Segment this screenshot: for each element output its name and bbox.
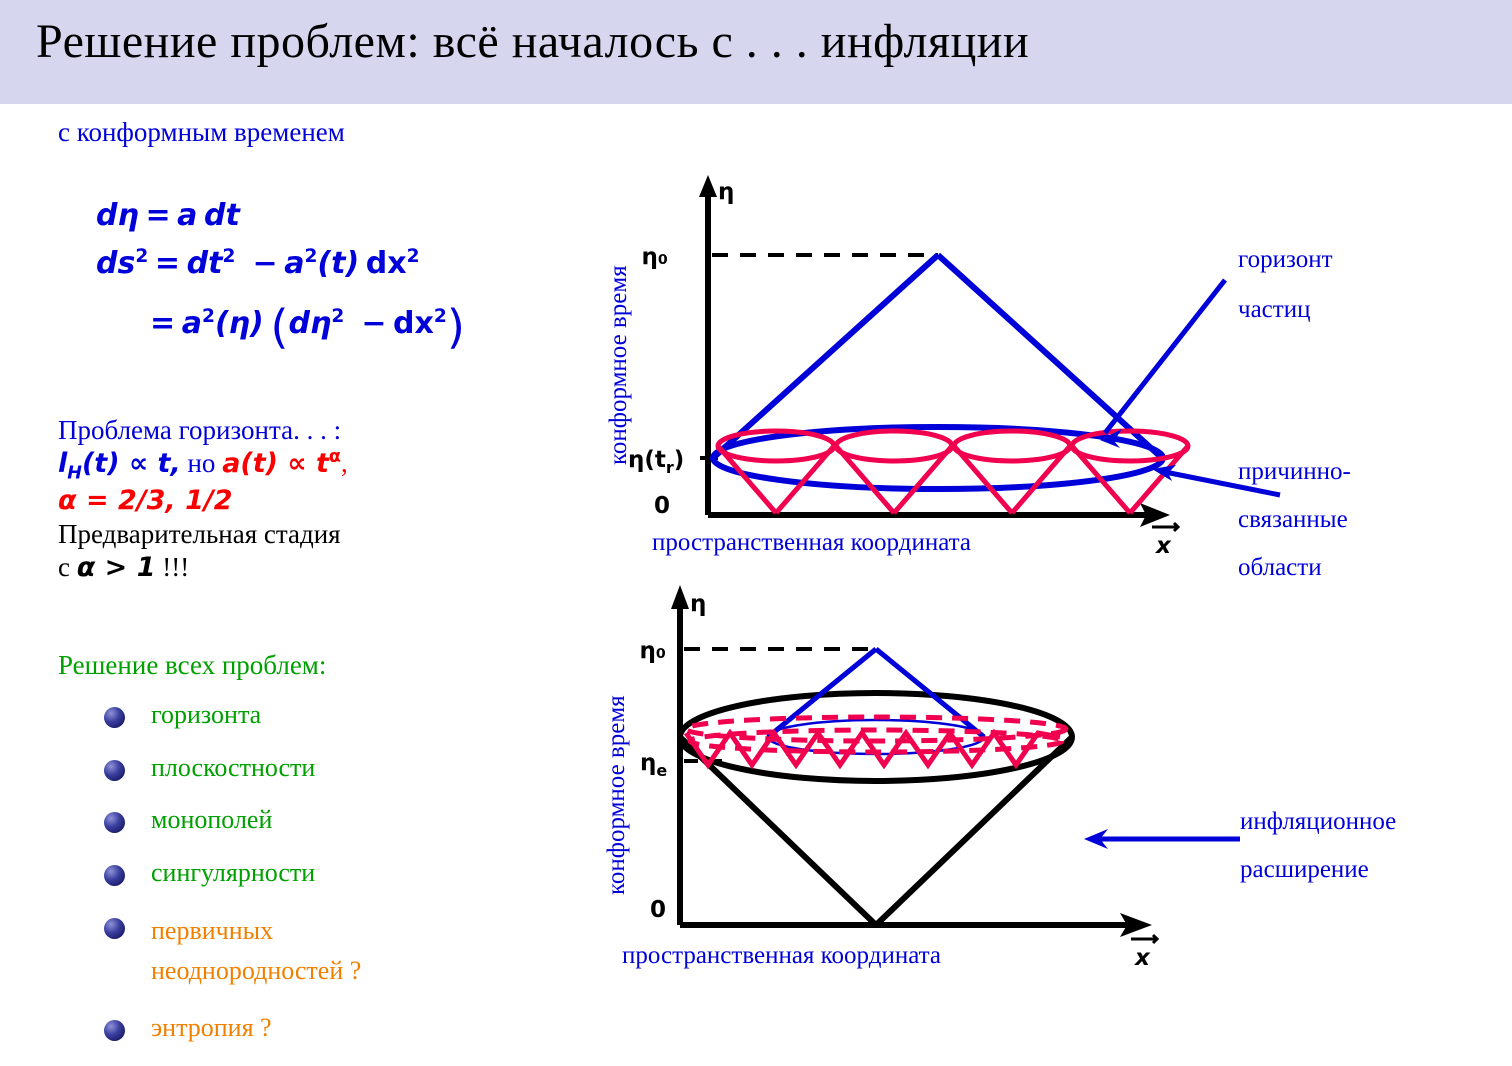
bullet-sphere-icon	[104, 760, 125, 781]
list-item[interactable]: энтропия ?	[104, 1013, 524, 1044]
page-title: Решение проблем: всё началось с . . . ин…	[36, 14, 1029, 69]
particle-horizon-arrow-line	[1105, 280, 1225, 433]
y-axis-symbol: η	[690, 591, 706, 617]
equation-ds2-conformal: =a2(η)(dη2 −dx2)	[150, 300, 465, 354]
equation-ds2-metric: ds2=dt2 −a2(t)dx2	[96, 246, 420, 281]
red-cone-ellipse	[1072, 431, 1188, 461]
y-axis-arrowhead	[699, 175, 717, 197]
red-cone-group-2	[836, 431, 952, 513]
list-item-label: горизонта	[151, 700, 261, 731]
red-cone-right-edge	[1012, 446, 1070, 513]
equation-deta-adt: dη=adt	[96, 198, 240, 233]
bullet-sphere-icon	[104, 865, 125, 886]
y-axis-title: конформное время	[605, 265, 632, 465]
annotation-inflation-line1: инфляционное	[1240, 808, 1396, 835]
bullet-sphere-icon	[104, 918, 125, 939]
list-item-label: монополей	[151, 805, 272, 836]
figure-inflation: η x конформное время пространственная ко…	[600, 565, 1512, 1005]
annotation-particle-horizon-line1: горизонт	[1238, 246, 1333, 273]
bullet-sphere-icon	[104, 812, 125, 833]
horizon-problem-heading: Проблема горизонта. . . :	[58, 414, 528, 447]
x-axis-symbol: x	[1155, 533, 1172, 559]
list-item[interactable]: сингулярности	[104, 858, 524, 889]
list-item-label: сингулярности	[151, 858, 315, 889]
x-axis-title: пространственная координата	[622, 942, 941, 969]
bullet-sphere-icon	[104, 1020, 125, 1041]
solutions-heading: Решение всех проблем:	[58, 650, 326, 681]
list-item-label: энтропия ?	[151, 1013, 272, 1044]
red-cone-left-edge	[836, 446, 894, 513]
tick-label-eta-e: ηe	[640, 750, 667, 780]
list-item[interactable]: первичных неоднородностей ?	[104, 911, 524, 992]
preliminary-stage-line: Предварительная стадия	[58, 518, 528, 551]
annotation-inflation-line2: расширение	[1240, 856, 1369, 883]
x-axis-symbol: x	[1134, 945, 1151, 971]
red-cone-left-edge	[954, 446, 1012, 513]
left-content-column: с конформным временем dη=adt ds2=dt2 −a2…	[0, 104, 600, 1040]
x-vector-arrow-icon	[1152, 523, 1178, 531]
tick-label-zero: 0	[650, 897, 666, 923]
tick-label-eta-tr: η(tr)	[628, 447, 684, 477]
x-axis-title: пространственная координата	[652, 529, 971, 556]
figure-standard-cosmology: η x конформное время пространственная ко…	[600, 165, 1512, 580]
list-item[interactable]: горизонта	[104, 700, 524, 731]
alpha-condition-line: с α > 1 !!!	[58, 551, 528, 585]
list-item-label: плоскостности	[151, 753, 315, 784]
list-item-label: первичных неоднородностей ?	[151, 911, 451, 992]
x-vector-arrow-icon	[1131, 935, 1157, 943]
bullet-sphere-icon	[104, 707, 125, 728]
red-cone-group-3	[954, 431, 1070, 513]
y-axis-arrowhead	[671, 585, 689, 609]
tick-label-zero: 0	[654, 493, 670, 519]
tick-label-eta0: η₀	[642, 244, 668, 270]
list-item[interactable]: монополей	[104, 805, 524, 836]
y-axis-symbol: η	[718, 179, 734, 205]
horizon-problem-block: Проблема горизонта. . . : lH(t) ∝ t, но …	[58, 414, 528, 585]
annotation-causal-regions-line2: связанные	[1238, 506, 1348, 533]
y-axis-title: конформное время	[603, 695, 630, 895]
red-cone-ellipse	[954, 431, 1070, 461]
list-item[interactable]: плоскостности	[104, 753, 524, 784]
subtitle-conformal-time: с конформным временем	[58, 117, 345, 148]
red-cone-right-edge	[894, 446, 952, 513]
horizon-problem-scaling: lH(t) ∝ t, но a(t) ∝ tα,	[58, 447, 528, 485]
tick-label-eta0: η₀	[640, 638, 666, 664]
annotation-causal-regions-line1: причинно-	[1238, 458, 1351, 485]
red-cone-ellipse	[836, 431, 952, 461]
annotation-particle-horizon-line2: частиц	[1238, 296, 1310, 323]
alpha-values: α = 2/3, 1/2	[58, 485, 528, 518]
solutions-list: горизонта плоскостности монополей сингул…	[104, 700, 524, 1066]
